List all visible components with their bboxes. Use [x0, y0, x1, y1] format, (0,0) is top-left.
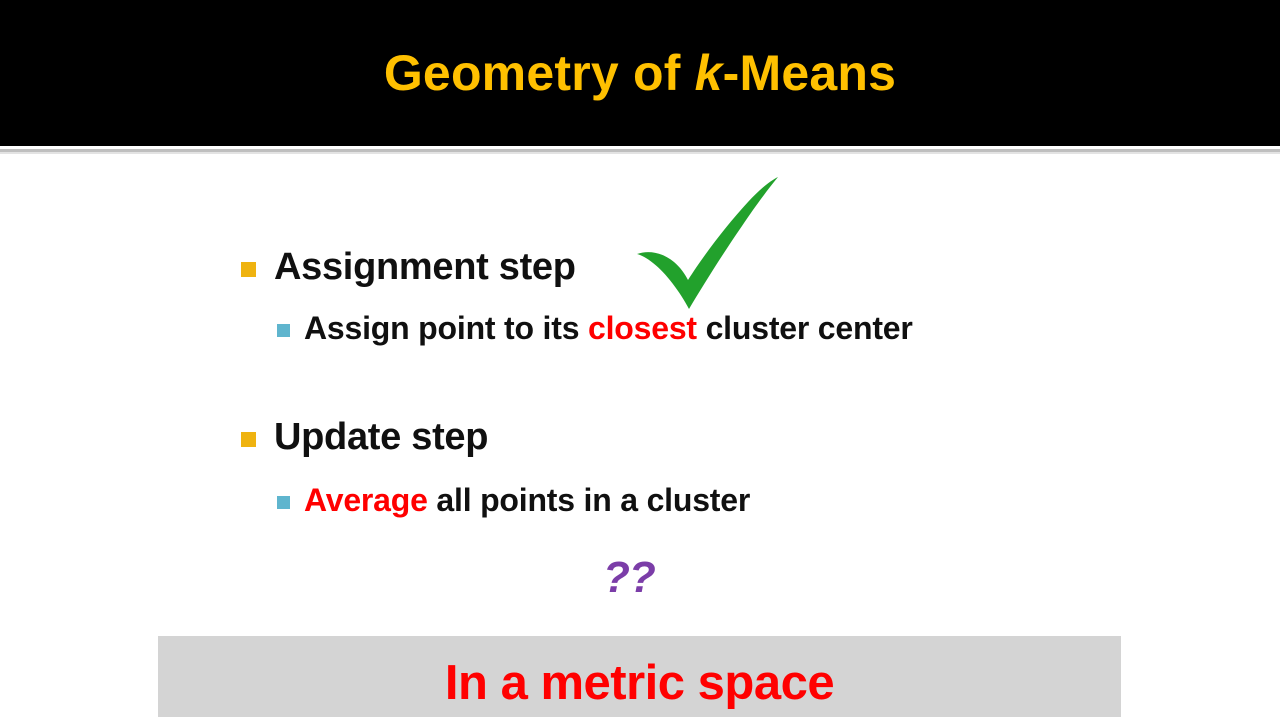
bullet-square-icon: [241, 262, 256, 277]
question-marks-annotation: ??: [603, 556, 655, 600]
slide-title-bar: Geometry of k-Means: [0, 0, 1280, 146]
assign-point-suffix: cluster center: [697, 310, 913, 346]
bullet-square-icon: [241, 432, 256, 447]
bottom-banner-text: In a metric space: [158, 636, 1121, 717]
bottom-banner: In a metric space: [158, 636, 1121, 717]
title-italic-k: k: [695, 45, 723, 101]
bullet-assignment-step: Assignment step: [241, 248, 576, 286]
sub-bullet-square-icon: [277, 324, 290, 337]
bullet-assign-point: Assign point to its closest cluster cent…: [277, 312, 913, 344]
slide-canvas: Geometry of k-Means Assignment step Assi…: [0, 0, 1280, 717]
title-suffix: -Means: [723, 45, 896, 101]
assign-point-highlight: closest: [588, 310, 697, 346]
bullet-average-points: Average all points in a cluster: [277, 484, 750, 516]
assign-point-prefix: Assign point to its: [304, 310, 588, 346]
average-highlight: Average: [304, 482, 428, 518]
bullet-assign-point-label: Assign point to its closest cluster cent…: [304, 312, 913, 344]
page-title: Geometry of k-Means: [384, 48, 896, 98]
average-suffix: all points in a cluster: [428, 482, 750, 518]
bullet-assignment-step-label: Assignment step: [274, 248, 576, 286]
bullet-average-points-label: Average all points in a cluster: [304, 484, 750, 516]
slide-body: Assignment step Assign point to its clos…: [0, 154, 1280, 634]
sub-bullet-square-icon: [277, 496, 290, 509]
bullet-update-step: Update step: [241, 418, 488, 456]
title-prefix: Geometry of: [384, 45, 695, 101]
bullet-update-step-label: Update step: [274, 418, 488, 456]
